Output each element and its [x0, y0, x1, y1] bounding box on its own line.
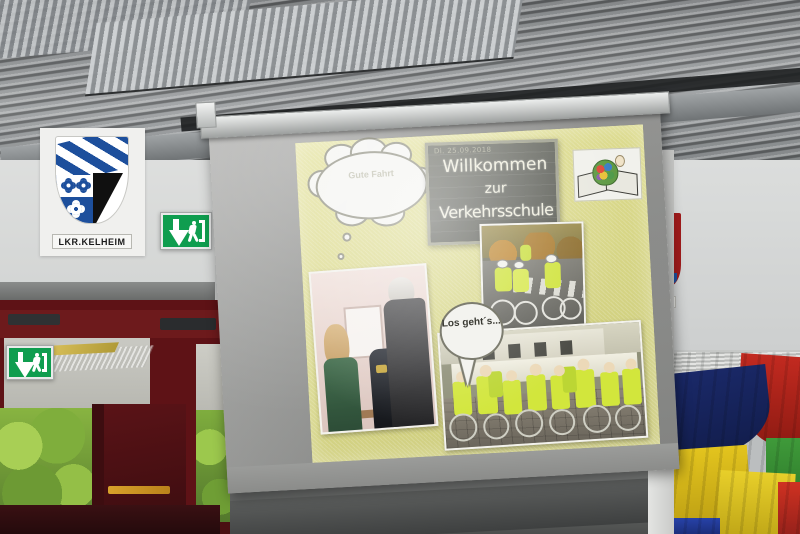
floor-left — [0, 505, 220, 534]
photo-two-people — [309, 263, 439, 434]
window — [508, 344, 521, 359]
coat-of-arms-kelheim: LKR.KELHEIM — [40, 128, 145, 256]
exit-sign-door — [6, 345, 54, 380]
child-hivis-vest — [622, 368, 642, 405]
child-cyclist — [544, 262, 561, 288]
running-person-icon — [189, 220, 205, 242]
arrow-down-icon — [169, 219, 182, 242]
person-leg — [36, 364, 42, 372]
chalkboard-line-3: Verkehrsschule — [430, 200, 561, 223]
speech-bubble: Los geht´s... — [438, 300, 505, 361]
child-hivis-vest — [600, 371, 620, 406]
screen-housing-endcap — [195, 101, 216, 128]
child-cyclist — [513, 269, 530, 292]
child-hivis-vest — [502, 380, 522, 415]
fabric-folds — [660, 352, 800, 534]
chalkboard-line-1: Willkommen — [428, 154, 561, 178]
play-parachute — [660, 352, 800, 534]
door-closer — [8, 314, 60, 325]
child-cyclist — [520, 245, 531, 261]
arrow-down-icon — [15, 352, 27, 373]
uniform-badge — [376, 364, 388, 373]
turtle-head — [615, 155, 625, 167]
person-green-jacket — [323, 357, 363, 435]
coat-of-arms-label: LKR.KELHEIM — [52, 234, 132, 249]
flower-icon — [70, 203, 82, 215]
exit-sign-ceiling — [160, 212, 212, 250]
screenshot-scene: LKR.KELHEIM — [0, 0, 800, 534]
projection-screen: Gute Fahrt Di. 25.09.2018 Willkommen zur… — [208, 98, 679, 494]
door-warning-strip — [108, 486, 170, 494]
door-closer — [160, 318, 216, 330]
exit-icon — [163, 215, 209, 247]
exit-icon — [9, 348, 51, 377]
running-person-icon — [33, 353, 47, 373]
thought-trail-dot — [337, 253, 344, 260]
child-hivis-vest — [574, 369, 596, 408]
entrance-doors[interactable] — [0, 300, 230, 534]
thought-bubble: Gute Fahrt — [314, 148, 430, 222]
open-book-icon — [572, 147, 642, 201]
window — [560, 340, 573, 355]
door-icon — [199, 220, 204, 242]
child-cyclist — [495, 267, 513, 291]
flower-icon — [63, 180, 74, 191]
window — [534, 342, 547, 357]
door-icon — [42, 353, 47, 373]
arrow-head — [169, 230, 189, 246]
shield-icon — [55, 136, 129, 224]
projected-slide: Gute Fahrt Di. 25.09.2018 Willkommen zur… — [295, 124, 660, 462]
flower-icon — [78, 180, 89, 191]
child-hivis-vest — [526, 374, 547, 411]
shield-black-triangle — [93, 173, 123, 224]
person-leg — [192, 232, 199, 241]
thought-trail-dot — [342, 232, 351, 241]
